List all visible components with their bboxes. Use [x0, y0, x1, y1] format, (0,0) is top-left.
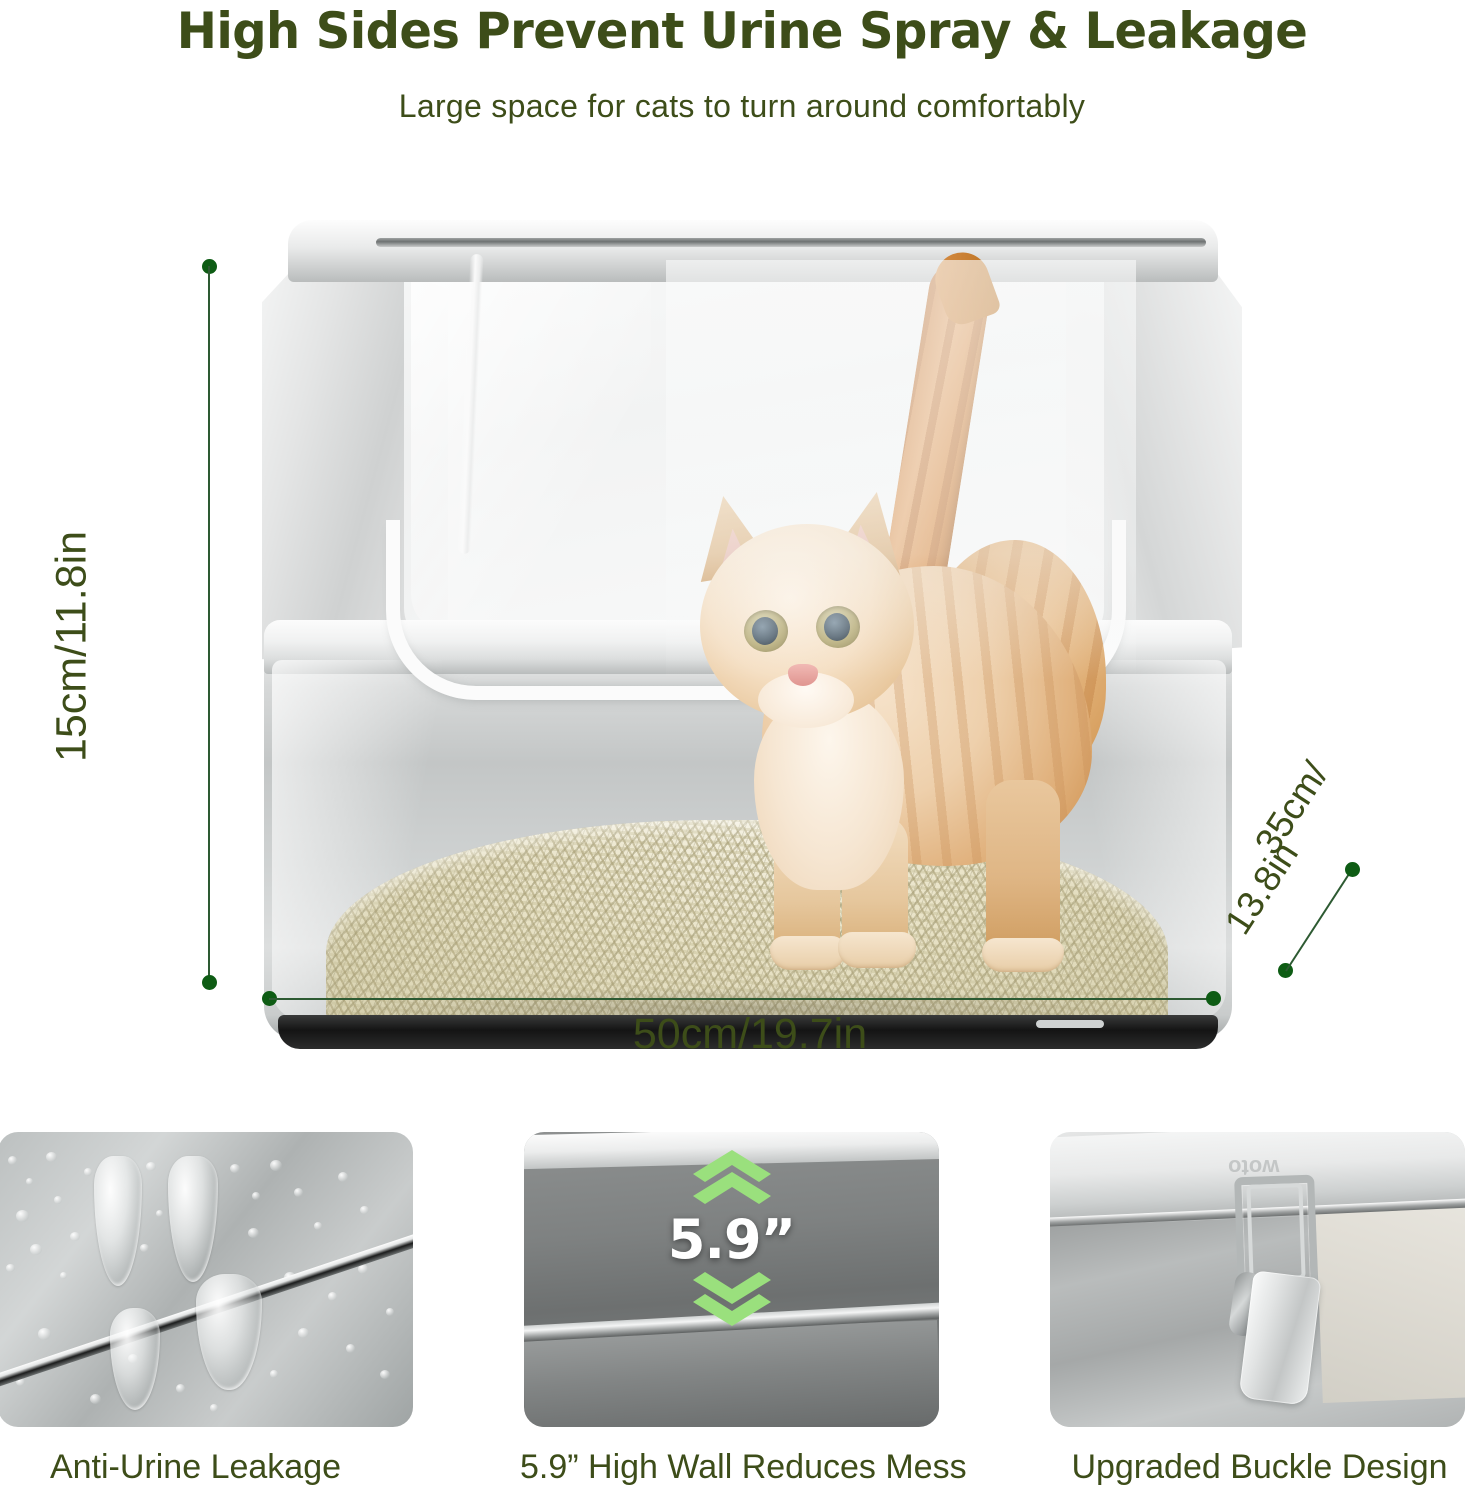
- page-title: High Sides Prevent Urine Spray & Leakage: [30, 2, 1455, 60]
- page-subtitle: Large space for cats to turn around comf…: [0, 88, 1484, 125]
- height-dimension-label: 15cm/11.8in: [48, 517, 97, 777]
- cat-paw-front-right: [838, 932, 916, 968]
- wall-height-value: 5.9”: [524, 1208, 939, 1271]
- cat-eye-right: [816, 606, 860, 648]
- litter-box-graphic: [236, 220, 1256, 1050]
- buckle-inner-wire: [1246, 1183, 1305, 1281]
- feature-panel-anti-urine-leakage[interactable]: [0, 1132, 413, 1427]
- tray-base-tab: [1036, 1020, 1104, 1028]
- panel-caption-high-wall: 5.9” High Wall Reduces Mess: [520, 1448, 935, 1487]
- width-dimension-label: 50cm/19.7in: [480, 1010, 1020, 1059]
- height-dim-line: [208, 266, 210, 982]
- hood-top-edge: [376, 238, 1206, 247]
- width-dim-line: [269, 998, 1213, 1000]
- chevron-up-icon: [524, 1148, 939, 1204]
- height-dim-dot-bottom: [202, 975, 217, 990]
- cat-eye-left: [744, 610, 788, 652]
- chevron-down-icon: [524, 1272, 939, 1328]
- cat-illustration: [666, 260, 1136, 960]
- infographic-page: High Sides Prevent Urine Spray & Leakage…: [0, 0, 1484, 1500]
- feature-panel-high-wall[interactable]: 5.9”: [524, 1132, 939, 1427]
- width-dim-dot-right: [1206, 991, 1221, 1006]
- depth-dim-dot-far: [1345, 862, 1360, 877]
- panel-caption-upgraded-buckle: Upgraded Buckle Design: [1052, 1448, 1467, 1487]
- cat-hind-leg: [986, 780, 1060, 956]
- feature-panel-upgraded-buckle[interactable]: woto: [1050, 1132, 1465, 1427]
- cat-paw-hind: [982, 938, 1064, 972]
- hero-product-illustration: [0, 150, 1484, 1090]
- panel-caption-anti-urine-leakage: Anti-Urine Leakage: [0, 1448, 403, 1487]
- cat-paw-front-left: [770, 936, 846, 970]
